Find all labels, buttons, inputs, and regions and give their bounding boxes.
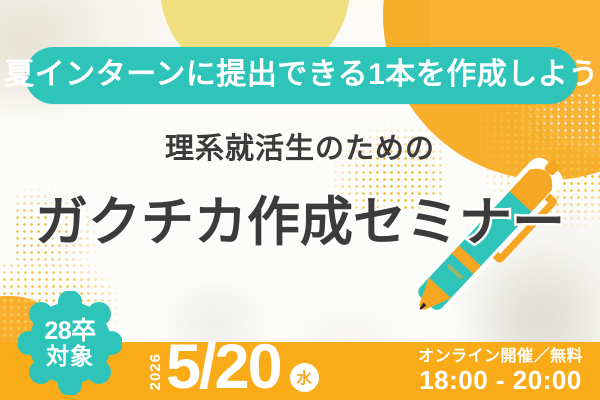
target-audience-badge: 28卒 対象 bbox=[18, 291, 122, 395]
event-year: 2026 bbox=[148, 353, 163, 390]
ribbon-text: 夏インターンに提出できる1本を作成しよう bbox=[4, 60, 599, 90]
badge-target-text: 対象 bbox=[46, 345, 94, 368]
event-date-group: 2026 5/20 水 bbox=[148, 342, 319, 400]
ribbon-banner: 夏インターンに提出できる1本を作成しよう bbox=[25, 47, 578, 104]
event-weekday-chip: 水 bbox=[290, 363, 319, 392]
event-info-group: オンライン開催／無料 18:00 - 20:00 bbox=[418, 342, 583, 400]
badge-label-group: 28卒 対象 bbox=[18, 291, 122, 395]
event-month-day: 5/20 bbox=[166, 339, 281, 397]
badge-grad-year: 28卒 bbox=[44, 319, 95, 344]
seminar-title: ガクチカ作成セミナー bbox=[0, 196, 600, 249]
event-time-text: 18:00 - 20:00 bbox=[419, 367, 582, 393]
seminar-banner: 夏インターンに提出できる1本を作成しよう 理系就活生のための ガクチカ作成セミナ… bbox=[0, 0, 600, 400]
event-format-text: オンライン開催／無料 bbox=[418, 349, 583, 365]
